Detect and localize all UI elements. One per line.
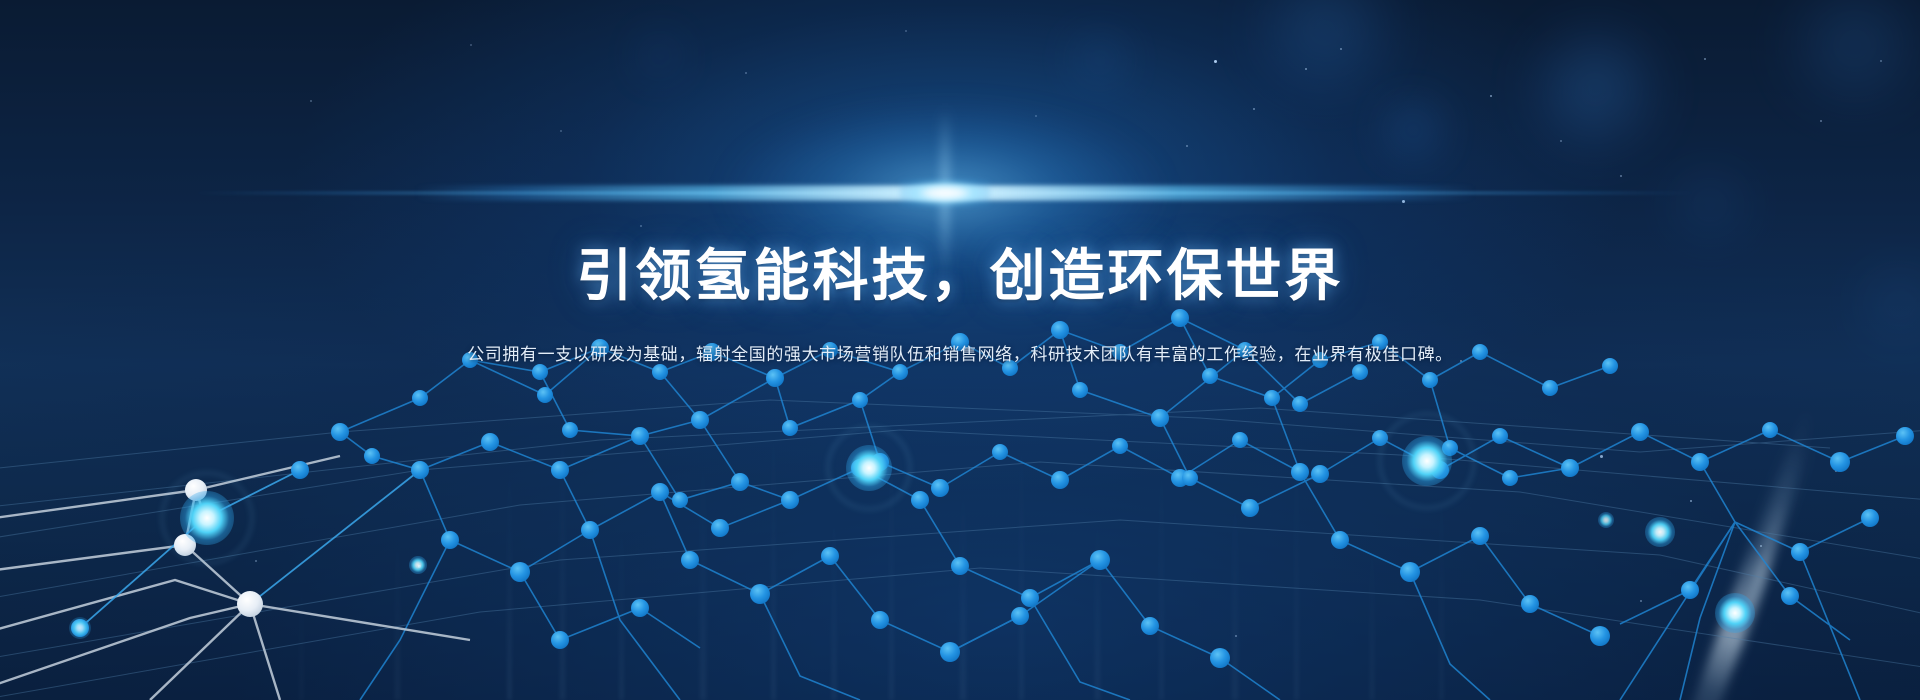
mesh-node (551, 461, 569, 479)
mesh-line-group-near (0, 456, 470, 700)
mesh-node (651, 483, 669, 501)
mesh-node (1021, 589, 1039, 607)
mesh-node (711, 519, 729, 537)
mesh-node (1311, 465, 1329, 483)
mesh-node (1141, 617, 1159, 635)
mesh-node (1372, 430, 1388, 446)
mesh-node (681, 551, 699, 569)
mesh-node (71, 619, 89, 637)
mesh-node (782, 420, 798, 436)
mesh-node (871, 611, 889, 629)
mesh-node (1202, 368, 1218, 384)
mesh-node (1590, 626, 1610, 646)
mesh-node (411, 461, 429, 479)
mesh-node (992, 444, 1008, 460)
mesh-node (1502, 470, 1518, 486)
mesh-node (1241, 499, 1259, 517)
mesh-node (951, 557, 969, 575)
mesh-node (1542, 380, 1558, 396)
mesh-node (551, 631, 569, 649)
mesh-node (631, 599, 649, 617)
mesh-node (871, 453, 889, 471)
mesh-node (441, 531, 459, 549)
mesh-node (1232, 432, 1248, 448)
mesh-node (1291, 463, 1309, 481)
mesh-node (672, 492, 688, 508)
mesh-node (1431, 461, 1449, 479)
mesh-node (911, 491, 929, 509)
mesh-node (1331, 531, 1349, 549)
mesh-node (931, 479, 949, 497)
mesh-node (291, 461, 309, 479)
mesh-line-group-main (340, 318, 1905, 700)
mesh-node (1422, 372, 1438, 388)
mesh-node (1681, 581, 1699, 599)
mesh-node-near (237, 591, 263, 617)
mesh-node (1051, 471, 1069, 489)
mesh-node (364, 448, 380, 464)
mesh-node (510, 562, 530, 582)
mesh-node (766, 369, 784, 387)
mesh-node (1861, 509, 1879, 527)
mesh-node (781, 491, 799, 509)
mesh-node (1442, 440, 1458, 456)
mesh-node-near (174, 534, 196, 556)
mesh-node (852, 392, 868, 408)
mesh-node (1691, 453, 1709, 471)
mesh-node (1090, 550, 1110, 570)
mesh-node (1011, 607, 1029, 625)
mesh-node (750, 584, 770, 604)
mesh-node (481, 433, 499, 451)
mesh-node (1210, 648, 1230, 668)
mesh-node (1791, 543, 1809, 561)
mesh-node (1561, 459, 1579, 477)
mesh-node (1292, 396, 1308, 412)
mesh-node (581, 521, 599, 539)
mesh-line-group-far (0, 400, 1920, 700)
hero-banner: 引领氢能科技，创造环保世界 公司拥有一支以研发为基础，辐射全国的强大市场营销队伍… (0, 0, 1920, 700)
banner-copy: 引领氢能科技，创造环保世界 公司拥有一支以研发为基础，辐射全国的强大市场营销队伍… (0, 243, 1920, 367)
mesh-node (1762, 422, 1778, 438)
mesh-node (1896, 427, 1914, 445)
mesh-node (562, 422, 578, 438)
mesh-node (1830, 452, 1850, 472)
mesh-node (1151, 409, 1169, 427)
page-title: 引领氢能科技，创造环保世界 (0, 243, 1920, 309)
mesh-node (1781, 587, 1799, 605)
mesh-node (1112, 438, 1128, 454)
mesh-node (1492, 428, 1508, 444)
mesh-node (331, 423, 349, 441)
mesh-node (851, 459, 869, 477)
mesh-node (940, 642, 960, 662)
mesh-node (1521, 595, 1539, 613)
mesh-node (1182, 470, 1198, 486)
page-subtitle: 公司拥有一支以研发为基础，辐射全国的强大市场营销队伍和销售网络，科研技术团队有丰… (0, 343, 1920, 367)
mesh-node-near (185, 479, 207, 501)
mesh-node (1264, 390, 1280, 406)
mesh-node (731, 473, 749, 491)
mesh-node (631, 427, 649, 445)
mesh-node (821, 547, 839, 565)
mesh-node (537, 387, 553, 403)
mesh-node (1471, 527, 1489, 545)
mesh-node (1400, 562, 1420, 582)
mesh-node (1072, 382, 1088, 398)
mesh-node (691, 411, 709, 429)
mesh-node (1631, 423, 1649, 441)
mesh-node (412, 390, 428, 406)
